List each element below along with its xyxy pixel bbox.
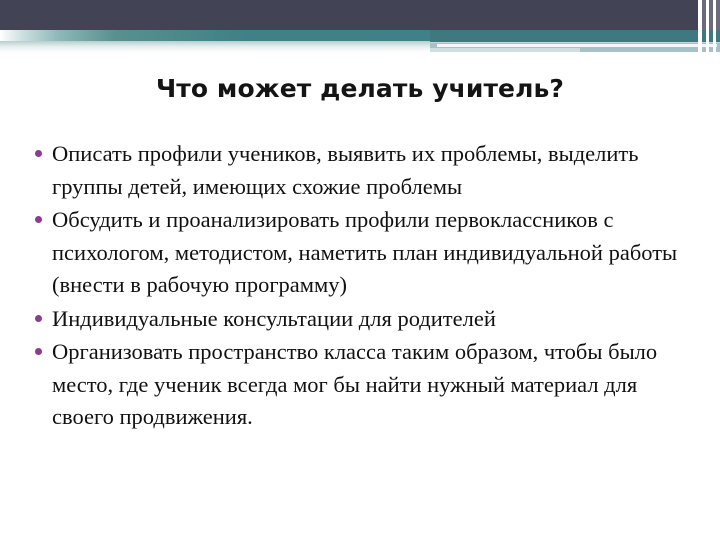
bullet-dot-icon xyxy=(35,348,42,355)
slide-bullet-list: Описать профили учеников, выявить их про… xyxy=(30,138,690,435)
header-accent-shelf xyxy=(430,48,580,52)
presentation-slide: Что может делать учитель? Описать профил… xyxy=(0,0,720,540)
header-dark-band xyxy=(0,0,720,30)
slide-title: Что может делать учитель? xyxy=(40,74,680,104)
bullet-dot-icon xyxy=(35,216,42,223)
header-accent-line xyxy=(437,44,717,47)
list-item: Организовать пространство класса таким о… xyxy=(30,336,690,434)
list-item: Описать профили учеников, выявить их про… xyxy=(30,138,690,203)
slide-header-decoration xyxy=(0,0,720,56)
bullet-text: Индивидуальные консультации для родителе… xyxy=(52,303,690,336)
header-stripe-2 xyxy=(706,0,709,56)
bullet-text: Организовать пространство класса таким о… xyxy=(52,336,690,434)
header-stripe-3 xyxy=(713,0,716,56)
bullet-text: Описать профили учеников, выявить их про… xyxy=(52,138,690,203)
list-item: Обсудить и проанализировать профили перв… xyxy=(30,204,690,302)
header-stripe-1 xyxy=(698,0,702,56)
header-accent-block xyxy=(430,30,720,42)
bullet-dot-icon xyxy=(35,150,42,157)
list-item: Индивидуальные консультации для родителе… xyxy=(30,303,690,336)
bullet-text: Обсудить и проанализировать профили перв… xyxy=(52,204,690,302)
bullet-dot-icon xyxy=(35,315,42,322)
header-stripe-tint-3 xyxy=(716,0,720,30)
